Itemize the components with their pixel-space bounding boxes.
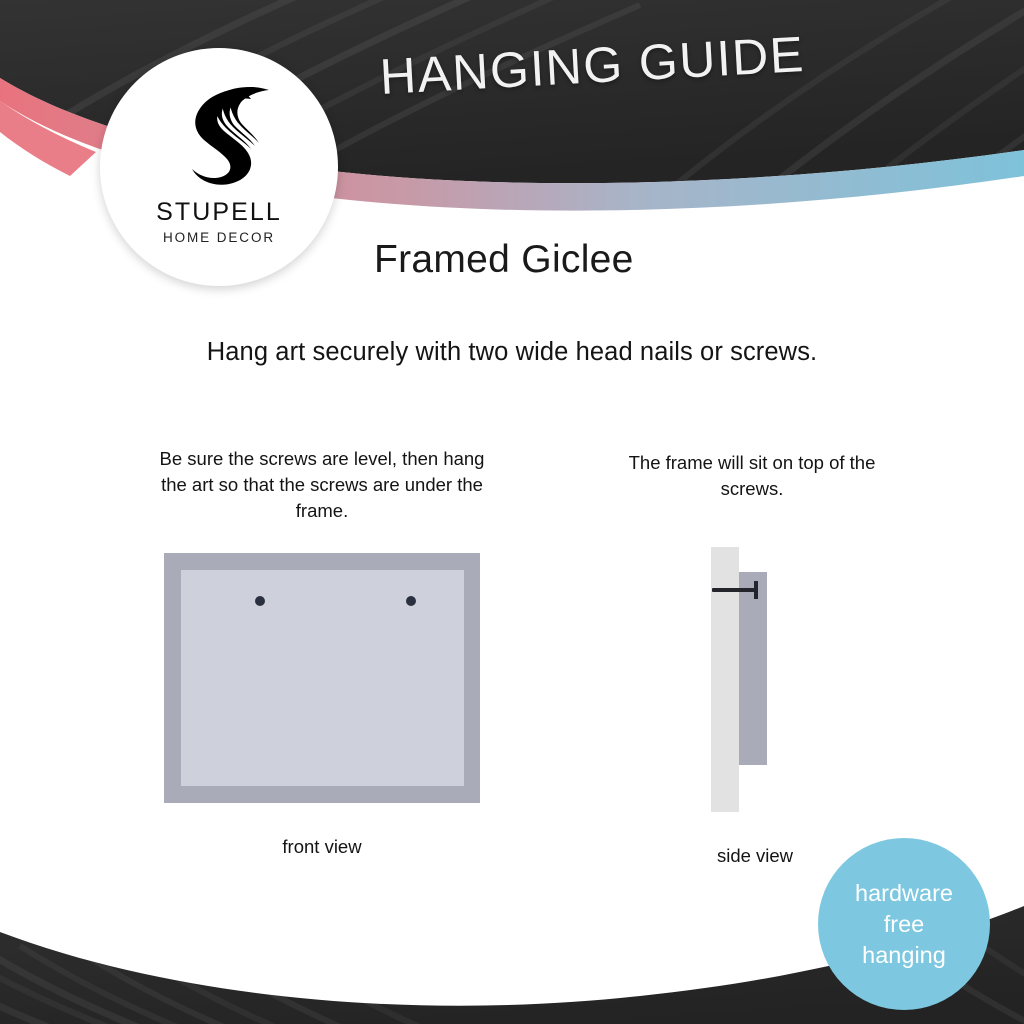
product-type-subtitle: Framed Giclee (374, 238, 634, 282)
front-view-caption: Be sure the screws are level, then hang … (152, 446, 492, 524)
nail-head-icon (754, 581, 758, 599)
hardware-free-hanging-badge: hardware free hanging (818, 838, 990, 1010)
brand-name: STUPELL (156, 198, 282, 227)
screw-dot-left (255, 596, 265, 606)
accent-wave-left-tail (0, 101, 96, 176)
page-title: HANGING GUIDE (378, 20, 900, 106)
front-view-diagram (164, 553, 480, 803)
side-view-caption: The frame will sit on top of the screws. (598, 450, 906, 502)
side-view-wall (711, 547, 739, 812)
brand-logo-badge: STUPELL HOME DECOR (100, 48, 338, 286)
hanging-guide-page: HANGING GUIDE STUPELL HOME DECOR Framed … (0, 0, 1024, 1024)
screw-dot-right (406, 596, 416, 606)
front-view-artwork-area (181, 570, 464, 786)
side-view-diagram (700, 540, 810, 820)
stupell-swoosh-s-icon (159, 74, 279, 194)
main-instruction-text: Hang art securely with two wide head nai… (0, 338, 1024, 367)
front-view-label: front view (164, 836, 480, 858)
badge-line-3: hanging (862, 940, 946, 971)
brand-tagline: HOME DECOR (163, 230, 275, 245)
side-view-label: side view (680, 845, 830, 867)
badge-line-2: free (884, 909, 925, 940)
nail-shaft-icon (712, 588, 758, 592)
badge-line-1: hardware (855, 878, 953, 909)
side-view-frame (739, 572, 767, 765)
